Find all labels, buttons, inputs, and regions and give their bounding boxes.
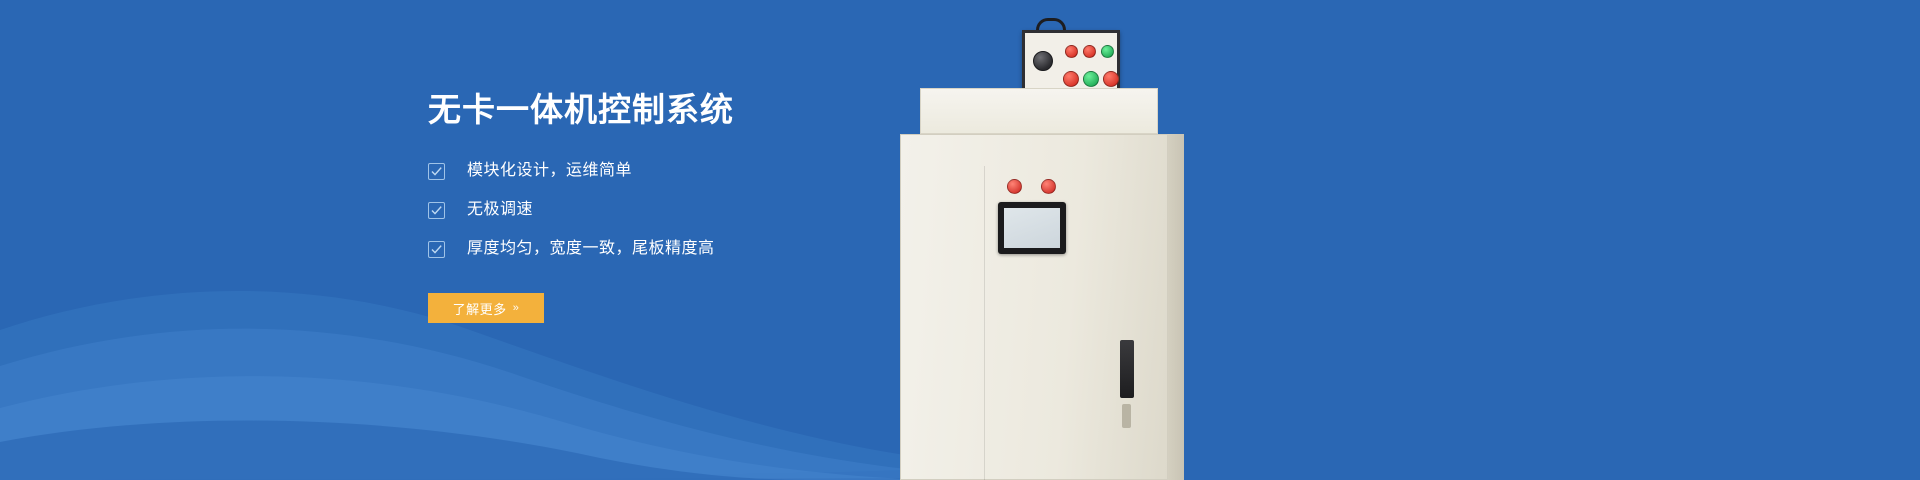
learn-more-label: 了解更多 (453, 299, 507, 318)
cabinet-door-seam (984, 166, 985, 480)
chevron-right-icon: » (513, 302, 520, 314)
lamp-red-2 (1083, 45, 1096, 58)
checkbox-checked-icon (428, 241, 445, 258)
lamp-green-2 (1083, 71, 1099, 87)
control-cabinet-photo (898, 0, 1188, 480)
hmi-touchscreen (998, 202, 1066, 254)
lamp-red-1 (1065, 45, 1078, 58)
cabinet-vent (1120, 340, 1134, 398)
cabinet-top-section (920, 88, 1158, 134)
feature-label: 模块化设计，运维简单 (467, 160, 632, 182)
list-item: 厚度均匀，宽度一致，尾板精度高 (428, 238, 948, 260)
page-title: 无卡一体机控制系统 (428, 88, 948, 132)
list-item: 无极调速 (428, 199, 948, 221)
cable-loop-icon (1036, 18, 1066, 30)
lamp-red-4 (1103, 71, 1119, 87)
push-button-red-left (1007, 179, 1022, 194)
cabinet-body (900, 134, 1168, 480)
learn-more-button[interactable]: 了解更多 » (428, 293, 544, 323)
list-item: 模块化设计，运维简单 (428, 160, 948, 182)
lamp-green-1 (1101, 45, 1114, 58)
checkbox-checked-icon (428, 163, 445, 180)
push-button-red-right (1041, 179, 1056, 194)
feature-label: 厚度均匀，宽度一致，尾板精度高 (467, 238, 715, 260)
checkbox-checked-icon (428, 202, 445, 219)
feature-list: 模块化设计，运维简单 无极调速 厚度均匀，宽度一致，尾板精度高 (428, 160, 948, 260)
hero-content: 无卡一体机控制系统 模块化设计，运维简单 无极调速 (428, 88, 948, 323)
hero-banner: 无卡一体机控制系统 模块化设计，运维简单 无极调速 (0, 0, 1920, 480)
hmi-screen-surface (1004, 208, 1060, 248)
lamp-red-3 (1063, 71, 1079, 87)
selector-knob (1033, 51, 1053, 71)
feature-label: 无极调速 (467, 199, 533, 221)
cabinet-handle (1122, 404, 1131, 428)
